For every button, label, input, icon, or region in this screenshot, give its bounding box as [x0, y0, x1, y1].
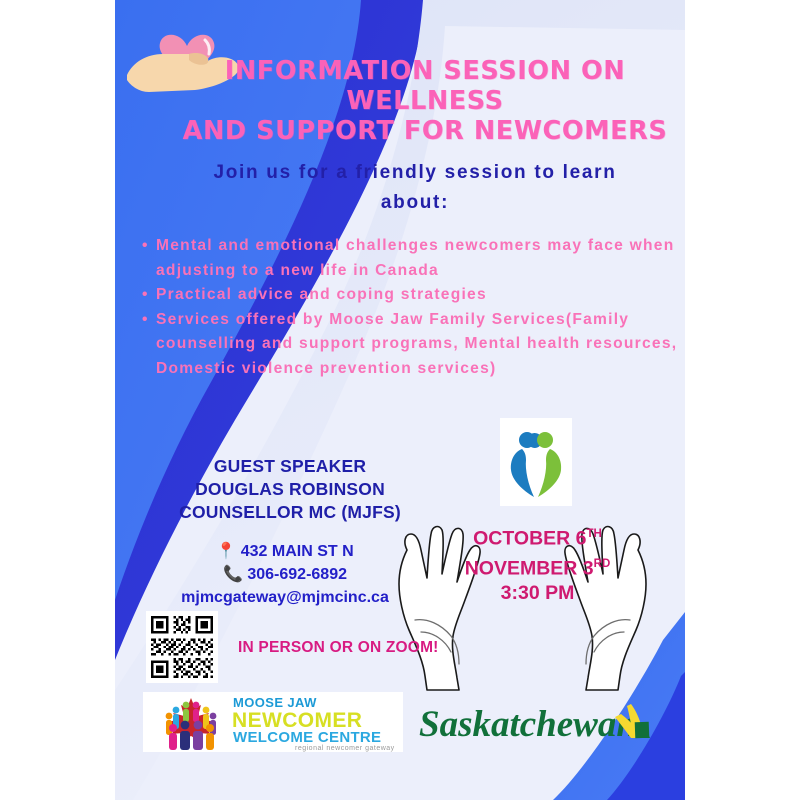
- title-line-1: INFORMATION SESSION ON WELLNESS: [175, 56, 675, 116]
- bullet-marker-icon: •: [142, 234, 149, 259]
- event-dates-block: OCTOBER 6TH NOVEMBER 3RD 3:30 PM: [440, 522, 635, 606]
- poster-title: INFORMATION SESSION ON WELLNESS AND SUPP…: [175, 56, 675, 146]
- qr-code-image: [146, 611, 218, 683]
- date-2-ordinal: RD: [594, 558, 611, 570]
- date-2-text: NOVEMBER 3: [465, 557, 594, 579]
- title-line-2: AND SUPPORT FOR NEWCOMERS: [175, 116, 675, 146]
- date-1-text: OCTOBER 6: [473, 528, 586, 550]
- svg-text:WELCOME CENTRE: WELCOME CENTRE: [233, 729, 381, 746]
- list-item: • Practical advice and coping strategies: [140, 283, 685, 308]
- list-item-text: Services offered by Moose Jaw Family Ser…: [156, 311, 677, 377]
- speaker-name: DOUGLAS ROBINSON: [125, 478, 455, 501]
- saskatchewan-logo: Saskatchewan: [417, 698, 665, 750]
- mjfs-logo: [500, 418, 572, 506]
- list-item: • Mental and emotional challenges newcom…: [140, 234, 685, 283]
- list-item-text: Mental and emotional challenges newcomer…: [156, 237, 675, 279]
- phone-text: 306-692-6892: [247, 566, 347, 583]
- speaker-role: GUEST SPEAKER: [125, 455, 455, 478]
- two-figures-heart-icon: [500, 418, 572, 506]
- screenshot-canvas: INFORMATION SESSION ON WELLNESS AND SUPP…: [0, 0, 800, 800]
- attendance-note: IN PERSON OR ON ZOOM!: [238, 639, 439, 657]
- location-pin-icon: 📍: [216, 543, 236, 560]
- list-item-text: Practical advice and coping strategies: [156, 286, 487, 303]
- bullet-marker-icon: •: [142, 308, 149, 333]
- phone-icon: 📞: [223, 566, 243, 583]
- mjnwc-logo: MOOSE JAW NEWCOMER WELCOME CENTRE region…: [143, 692, 403, 752]
- qr-code[interactable]: [146, 611, 218, 683]
- poster-subtitle: Join us for a friendly session to learn …: [160, 158, 670, 218]
- date-1-ordinal: TH: [587, 528, 602, 540]
- date-line-1: OCTOBER 6TH: [440, 522, 635, 552]
- poster-sheet: INFORMATION SESSION ON WELLNESS AND SUPP…: [115, 0, 685, 800]
- topics-list: • Mental and emotional challenges newcom…: [140, 234, 685, 382]
- saskatchewan-logo-image: Saskatchewan: [417, 698, 665, 750]
- list-item: • Services offered by Moose Jaw Family S…: [140, 308, 685, 382]
- event-time: 3:30 PM: [440, 581, 635, 606]
- mjnwc-logo-image: MOOSE JAW NEWCOMER WELCOME CENTRE region…: [143, 692, 403, 752]
- bullet-marker-icon: •: [142, 283, 149, 308]
- svg-text:regional newcomer gateway: regional newcomer gateway: [295, 745, 395, 752]
- subtitle-line-1: Join us for a friendly session to learn: [160, 158, 670, 188]
- date-line-2: NOVEMBER 3RD: [440, 552, 635, 582]
- subtitle-line-2: about:: [160, 188, 670, 218]
- svg-text:MOOSE JAW: MOOSE JAW: [233, 695, 317, 710]
- address-text: 432 MAIN ST N: [241, 543, 354, 560]
- svg-text:Saskatchewan: Saskatchewan: [419, 704, 637, 745]
